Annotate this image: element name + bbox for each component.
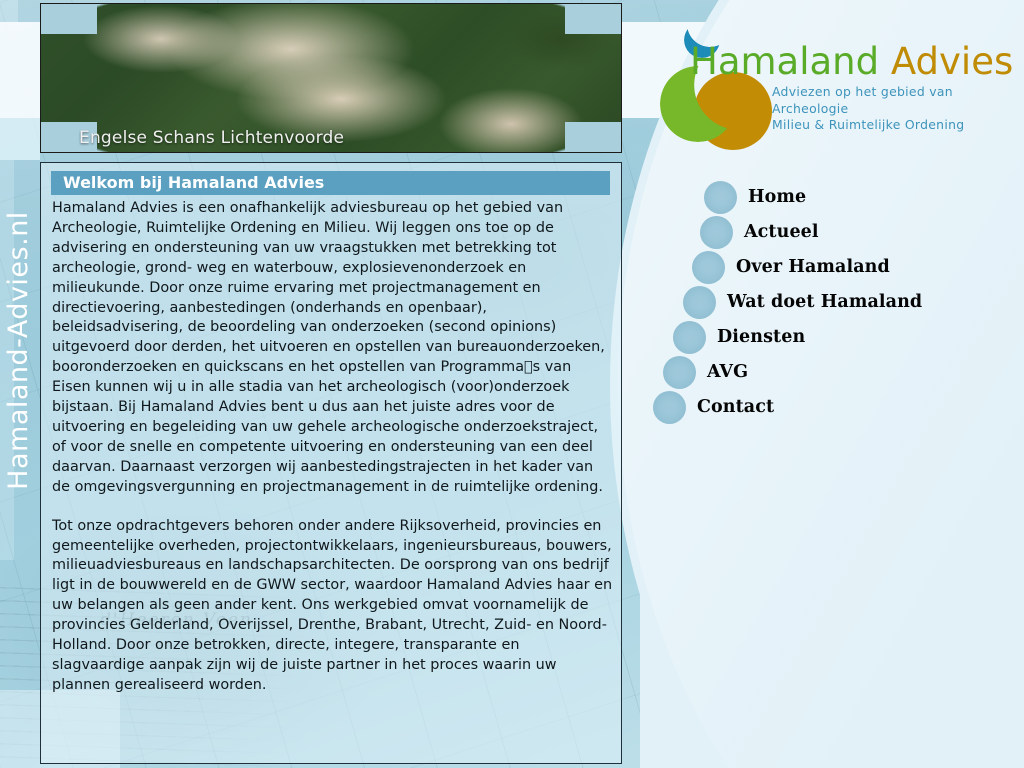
nav-item-diensten[interactable]: Diensten xyxy=(673,320,805,354)
content-body: Hamaland Advies is een onafhankelijk adv… xyxy=(52,199,614,715)
site-logo-header[interactable]: Hamaland Advies Adviezen op het gebied v… xyxy=(652,14,1024,144)
brand-wordmark: Hamaland Advies xyxy=(690,40,1013,83)
bg-block-1 xyxy=(0,118,40,160)
nav-item-wat-doet-hamaland[interactable]: Wat doet Hamaland xyxy=(683,285,922,319)
nav-item-label: Actueel xyxy=(744,222,819,242)
nav-bullet-circle-icon xyxy=(700,216,733,249)
nav-item-label: AVG xyxy=(707,362,748,382)
nav-bullet-circle-icon xyxy=(653,391,686,424)
nav-item-label: Wat doet Hamaland xyxy=(727,292,922,312)
brand-wordmark-part-2: Advies xyxy=(879,40,1013,83)
hero-photo-panel: Engelse Schans Lichtenvoorde xyxy=(40,3,622,153)
content-paragraph: Tot onze opdrachtgevers behoren onder an… xyxy=(52,517,614,696)
main-content-panel: Welkom bij Hamaland Advies Hamaland Advi… xyxy=(40,162,622,764)
brand-tagline-line-2: Milieu & Ruimtelijke Ordening xyxy=(772,117,1024,134)
nav-bullet-circle-icon xyxy=(704,181,737,214)
nav-item-avg[interactable]: AVG xyxy=(663,355,748,389)
nav-item-actueel[interactable]: Actueel xyxy=(700,215,819,249)
nav-bullet-circle-icon xyxy=(673,321,706,354)
brand-tagline: Adviezen op het gebied van Archeologie M… xyxy=(772,84,1024,134)
main-navigation: HomeActueelOver HamalandWat doet Hamalan… xyxy=(640,160,1024,460)
nav-item-home[interactable]: Home xyxy=(704,180,806,214)
nav-bullet-circle-icon xyxy=(683,286,716,319)
hero-photo-corner-fill xyxy=(41,4,97,34)
nav-item-over-hamaland[interactable]: Over Hamaland xyxy=(692,250,890,284)
nav-item-contact[interactable]: Contact xyxy=(653,390,774,424)
nav-item-label: Contact xyxy=(697,397,774,417)
content-paragraph: Hamaland Advies is een onafhankelijk adv… xyxy=(52,199,614,498)
brand-wordmark-part-1: Hamaland xyxy=(690,40,879,83)
nav-bullet-circle-icon xyxy=(663,356,696,389)
bg-block-3 xyxy=(0,160,14,560)
page-title: Welkom bij Hamaland Advies xyxy=(51,171,610,195)
bg-block-2 xyxy=(0,0,18,22)
hero-photo-corner-fill xyxy=(565,122,621,152)
nav-item-label: Diensten xyxy=(717,327,805,347)
hero-photo-corner-fill xyxy=(565,4,621,34)
nav-item-label: Over Hamaland xyxy=(736,257,890,277)
brand-tagline-line-1: Adviezen op het gebied van Archeologie xyxy=(772,84,1024,117)
nav-item-label: Home xyxy=(748,187,806,207)
nav-bullet-circle-icon xyxy=(692,251,725,284)
hero-photo-caption: Engelse Schans Lichtenvoorde xyxy=(79,128,344,148)
